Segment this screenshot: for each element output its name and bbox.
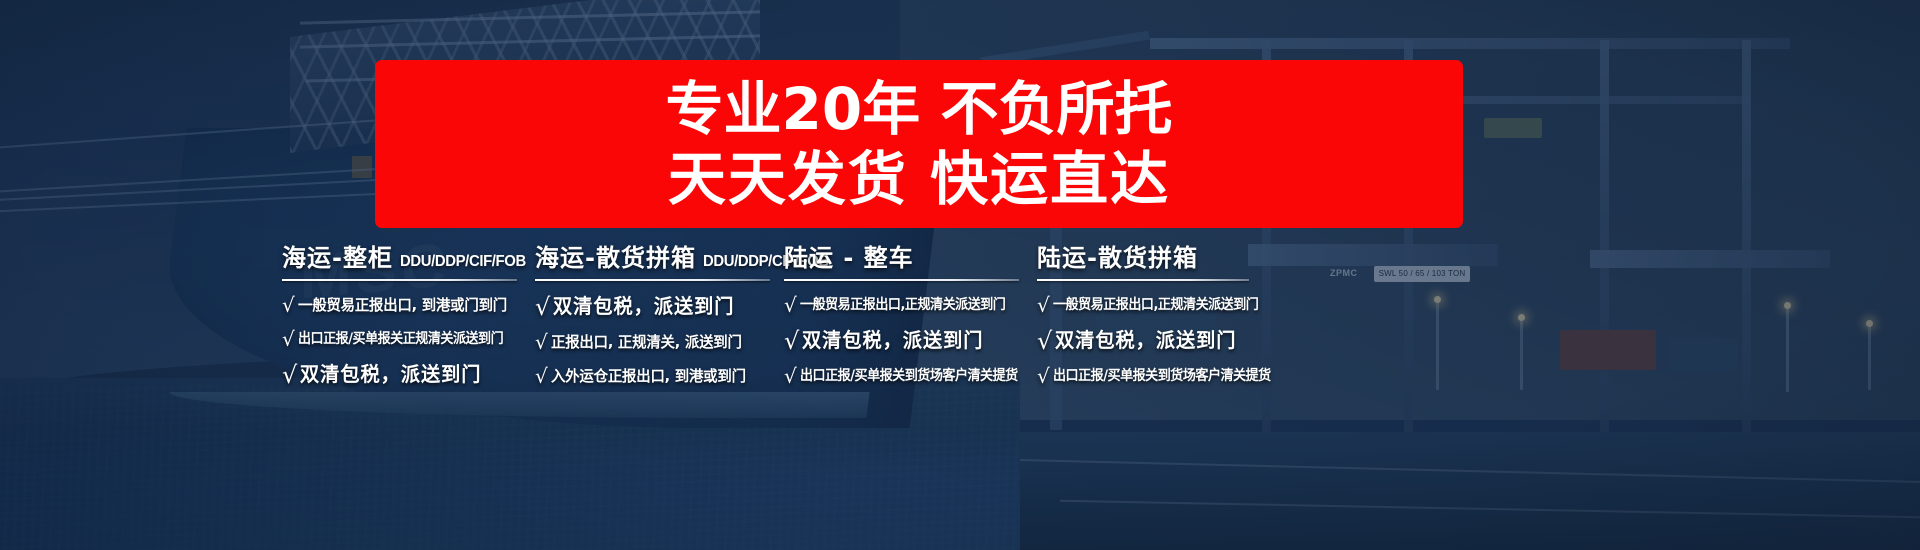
list-item: √ 入外运仓正报出口, 到港或到门 [535,365,784,388]
list-item: √ 双清包税，派送到门 [282,362,535,388]
list-item-text: 一般贸易正报出口, 到港或门到门 [298,294,507,317]
list-item-text: 双清包税，派送到门 [1055,328,1236,352]
column-header: 陆运 - 整车 [784,238,1037,273]
list-item: √ 双清包税，派送到门 [784,328,1037,354]
list-item: √ 一般贸易正报出口,正规清关派送到门 [784,294,1037,317]
column-header: 海运-整柜 DDU/DDP/CIF/FOB [282,238,535,273]
check-icon: √ [784,294,797,316]
column-items: √ 双清包税，派送到门 √ 正报出口, 正规清关, 派送到门 √ 入外运仓正报出… [535,294,784,388]
column-trade-terms: DDU/DDP/CIF/FOB [400,253,526,271]
check-icon: √ [535,365,548,387]
column-header: 海运-散货拼箱 DDU/DDP/CIF/FOB [535,238,784,273]
headline-line-1: 专业20年 不负所托 [666,74,1173,144]
list-item-text: 双清包税，派送到门 [300,362,481,386]
list-item: √ 出口正报/买单报关正规清关派送到门 [282,328,535,351]
service-column-sea-lcl: 海运-散货拼箱 DDU/DDP/CIF/FOB √ 双清包税，派送到门 √ 正报… [535,238,784,408]
list-item-text: 双清包税，派送到门 [802,328,983,352]
check-icon: √ [282,362,297,388]
column-items: √ 一般贸易正报出口, 到港或门到门 √ 出口正报/买单报关正规清关派送到门 √… [282,294,535,388]
column-items: √ 一般贸易正报出口,正规清关派送到门 √ 双清包税，派送到门 √ 出口正报/买… [1037,294,1327,388]
list-item-text: 一般贸易正报出口,正规清关派送到门 [800,294,1005,317]
column-title: 陆运-散货拼箱 [1037,238,1198,273]
column-items: √ 一般贸易正报出口,正规清关派送到门 √ 双清包税，派送到门 √ 出口正报/买… [784,294,1037,388]
check-icon: √ [282,294,295,316]
column-divider [282,279,517,281]
column-divider [535,279,770,281]
check-icon: √ [784,328,799,354]
list-item: √ 双清包税，派送到门 [1037,328,1327,354]
headline-red-box: 专业20年 不负所托 天天发货 快运直达 [375,60,1463,228]
check-icon: √ [1037,365,1050,387]
column-divider [784,279,1019,281]
logistics-hero-banner: MSC ZPMC SWL 50 / 65 / 103 TON [0,0,1920,550]
check-icon: √ [535,294,550,320]
list-item: √ 正报出口, 正规清关, 派送到门 [535,331,784,354]
service-columns: 海运-整柜 DDU/DDP/CIF/FOB √ 一般贸易正报出口, 到港或门到门… [282,238,1572,408]
list-item: √ 出口正报/买单报关到货场客户清关提货 [784,365,1037,388]
list-item: √ 一般贸易正报出口, 到港或门到门 [282,294,535,317]
check-icon: √ [535,331,548,353]
list-item-text: 正报出口, 正规清关, 派送到门 [551,331,742,354]
list-item-text: 入外运仓正报出口, 到港或到门 [551,365,746,388]
column-title: 海运-整柜 [282,238,393,273]
service-column-land-ltl: 陆运-散货拼箱 √ 一般贸易正报出口,正规清关派送到门 √ 双清包税，派送到门 … [1037,238,1327,408]
check-icon: √ [784,365,797,387]
service-column-land-ftl: 陆运 - 整车 √ 一般贸易正报出口,正规清关派送到门 √ 双清包税，派送到门 … [784,238,1037,408]
check-icon: √ [1037,328,1052,354]
check-icon: √ [282,328,295,350]
service-column-sea-fcl: 海运-整柜 DDU/DDP/CIF/FOB √ 一般贸易正报出口, 到港或门到门… [282,238,535,408]
check-icon: √ [1037,294,1050,316]
headline-line-2: 天天发货 快运直达 [668,144,1170,214]
list-item: √ 一般贸易正报出口,正规清关派送到门 [1037,294,1327,317]
list-item-text: 出口正报/买单报关到货场客户清关提货 [1053,365,1271,388]
list-item-text: 出口正报/买单报关正规清关派送到门 [298,328,503,351]
column-divider [1037,279,1249,281]
list-item: √ 出口正报/买单报关到货场客户清关提货 [1037,365,1327,388]
list-item-text: 一般贸易正报出口,正规清关派送到门 [1053,294,1258,317]
list-item: √ 双清包税，派送到门 [535,294,784,320]
list-item-text: 出口正报/买单报关到货场客户清关提货 [800,365,1018,388]
column-title: 海运-散货拼箱 [535,238,696,273]
list-item-text: 双清包税，派送到门 [553,294,734,318]
column-title: 陆运 - 整车 [784,238,914,273]
column-header: 陆运-散货拼箱 [1037,238,1327,273]
